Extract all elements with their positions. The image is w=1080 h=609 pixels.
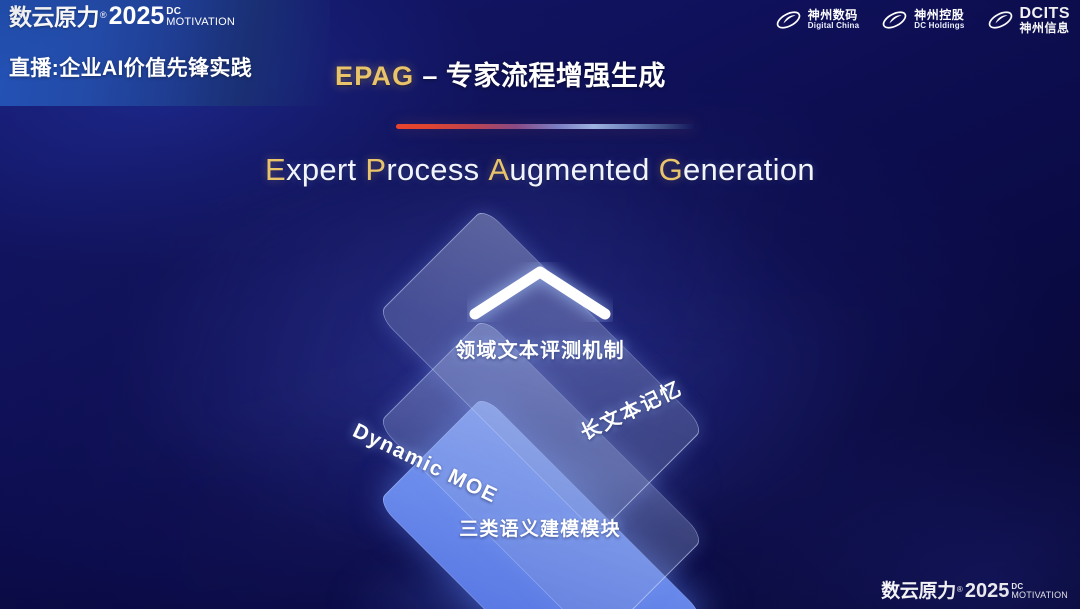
- brand-name-cn: 数云原力: [9, 6, 99, 29]
- subheadline-rest: rocess: [386, 152, 479, 187]
- live-stream-label: 直播:企业AI价值先锋实践: [9, 52, 252, 82]
- partner-logo-digital-china: 神州数码 Digital China: [775, 8, 860, 32]
- swoosh-icon: [987, 8, 1014, 32]
- swoosh-icon: [881, 8, 908, 32]
- presentation-slide: 数云原力 ® 2025 DC MOTIVATION 直播:企业AI价值先锋实践 …: [0, 0, 1080, 609]
- layered-architecture-diagram: 领域文本评测机制 Dynamic MOE 长文本记忆 三类语义建模模块: [0, 226, 1080, 586]
- diagram-layer-top[interactable]: [305, 220, 775, 520]
- partner-name-en: DCITS: [1020, 5, 1071, 22]
- partner-logo-dc-holdings: 神州控股 DC Holdings: [881, 8, 964, 32]
- subheadline-initial: A: [488, 152, 509, 187]
- subheadline-word-expert: Expert: [265, 152, 356, 187]
- partner-logo-dcits: DCITS 神州信息: [987, 5, 1071, 35]
- partner-name-cn: 神州信息: [1020, 22, 1071, 35]
- subheadline-word-generation: Generation: [659, 152, 815, 187]
- footer-watermark-logo: 数云原力 ® 2025 DC MOTIVATION: [881, 581, 1068, 601]
- subheadline-rest: xpert: [286, 152, 356, 187]
- watermark-motivation-text: MOTIVATION: [1011, 591, 1068, 600]
- partner-logo-text: 神州数码 Digital China: [808, 9, 860, 31]
- partner-logo-text: 神州控股 DC Holdings: [914, 9, 964, 31]
- registered-mark-icon: ®: [957, 585, 963, 594]
- slide-subheadline: Expert Process Augmented Generation: [0, 152, 1080, 188]
- registered-mark-icon: ®: [100, 10, 107, 20]
- subheadline-rest: eneration: [683, 152, 815, 187]
- watermark-year: 2025: [965, 581, 1010, 601]
- headline-acronym: EPAG: [335, 61, 414, 91]
- layer-label-top: 领域文本评测机制: [0, 334, 1080, 363]
- headline-separator: –: [414, 61, 446, 91]
- brand-motivation-text: MOTIVATION: [166, 17, 235, 28]
- subheadline-initial: P: [365, 152, 386, 187]
- partner-logo-text: DCITS 神州信息: [1020, 5, 1071, 35]
- space: [650, 152, 659, 187]
- layer-label-bottom: 三类语义建模模块: [0, 514, 1080, 541]
- headline-chinese: 专家流程增强生成: [446, 61, 666, 91]
- subheadline-word-augmented: Augmented: [488, 152, 649, 187]
- gradient-divider: [396, 124, 696, 129]
- watermark-name-cn: 数云原力: [881, 582, 956, 601]
- slide-headline: EPAG – 专家流程增强生成: [335, 54, 666, 93]
- subheadline-initial: E: [265, 152, 286, 187]
- brand-year: 2025: [109, 4, 165, 29]
- subheadline-rest: ugmented: [509, 152, 649, 187]
- brand-lockup: 数云原力 ® 2025 DC MOTIVATION: [9, 4, 235, 29]
- partner-logo-group: 神州数码 Digital China 神州控股 DC Holdings: [775, 5, 1070, 35]
- layer-plate-top: [377, 207, 705, 535]
- subheadline-word-process: Process: [365, 152, 479, 187]
- brand-dc-motivation: DC MOTIVATION: [166, 7, 235, 28]
- subheadline-initial: G: [659, 152, 683, 187]
- brand-banner: 数云原力 ® 2025 DC MOTIVATION 直播:企业AI价值先锋实践: [0, 0, 330, 106]
- swoosh-icon: [775, 8, 802, 32]
- partner-name-en: Digital China: [808, 22, 860, 31]
- watermark-dc-motivation: DC MOTIVATION: [1011, 583, 1068, 600]
- partner-name-en: DC Holdings: [914, 22, 964, 31]
